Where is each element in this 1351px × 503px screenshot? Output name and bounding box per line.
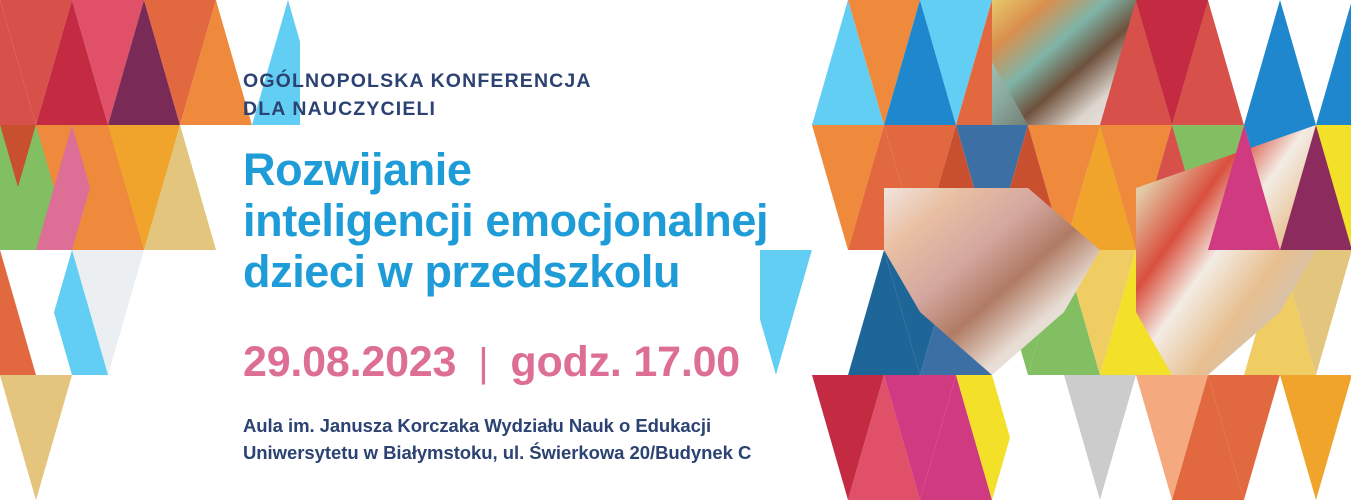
- banner-text-block: OGÓLNOPOLSKA KONFERENCJA DLA NAUCZYCIELI…: [243, 68, 803, 466]
- headline-line-3: dzieci w przedszkolu: [243, 247, 803, 298]
- headline-line-2: inteligencji emocjonalnej: [243, 196, 803, 247]
- event-venue: Aula im. Janusza Korczaka Wydziału Nauk …: [243, 387, 803, 466]
- kicker-line-1: OGÓLNOPOLSKA KONFERENCJA: [243, 68, 803, 96]
- event-date: 29.08.2023: [243, 338, 456, 387]
- conference-banner: OGÓLNOPOLSKA KONFERENCJA DLA NAUCZYCIELI…: [0, 0, 1351, 503]
- kicker: OGÓLNOPOLSKA KONFERENCJA DLA NAUCZYCIELI: [243, 68, 803, 123]
- headline-line-1: Rozwijanie: [243, 145, 803, 196]
- venue-line-1: Aula im. Janusza Korczaka Wydziału Nauk …: [243, 413, 803, 440]
- venue-line-2: Uniwersytetu w Białymstoku, ul. Świerkow…: [243, 440, 803, 467]
- event-time: godz. 17.00: [510, 338, 740, 387]
- right-triangle-mosaic: [760, 0, 1351, 503]
- kicker-line-2: DLA NAUCZYCIELI: [243, 96, 803, 124]
- page-title: Rozwijanie inteligencji emocjonalnej dzi…: [243, 123, 803, 298]
- event-datetime: 29.08.2023 | godz. 17.00: [243, 298, 803, 387]
- datetime-separator: |: [456, 341, 510, 386]
